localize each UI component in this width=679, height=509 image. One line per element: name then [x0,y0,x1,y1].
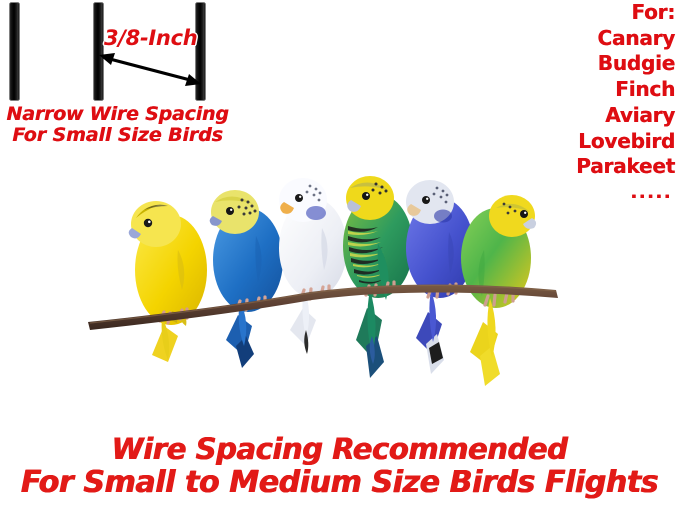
bird-blue [210,190,283,368]
double-arrow-icon [95,48,205,93]
bottom-caption: Wire Spacing Recommended For Small to Me… [0,432,679,500]
bird-yellow [129,201,207,362]
narrow-wire-spacing-diagram: 3/8-Inch Narrow Wire Spacing For Small S… [0,0,250,155]
species-item-aviary: Aviary [576,103,675,129]
bird-white [279,178,347,354]
budgerigar-photo [60,140,600,390]
cage-wire-bar [10,3,19,100]
bottom-caption-line2: For Small to Medium Size Birds Flights [0,466,679,500]
bottom-caption-line1: Wire Spacing Recommended [0,432,679,466]
spacing-measurement-label: 3/8-Inch [104,26,197,50]
species-item-canary: Canary [576,26,675,52]
infographic-canvas: 3/8-Inch Narrow Wire Spacing For Small S… [0,0,679,509]
species-list-heading: For: [576,0,675,26]
narrow-wire-caption-line1: Narrow Wire Spacing [0,104,235,125]
species-item-finch: Finch [576,77,675,103]
budgerigar-illustration [60,140,600,390]
bird-green [343,176,413,378]
species-item-budgie: Budgie [576,51,675,77]
